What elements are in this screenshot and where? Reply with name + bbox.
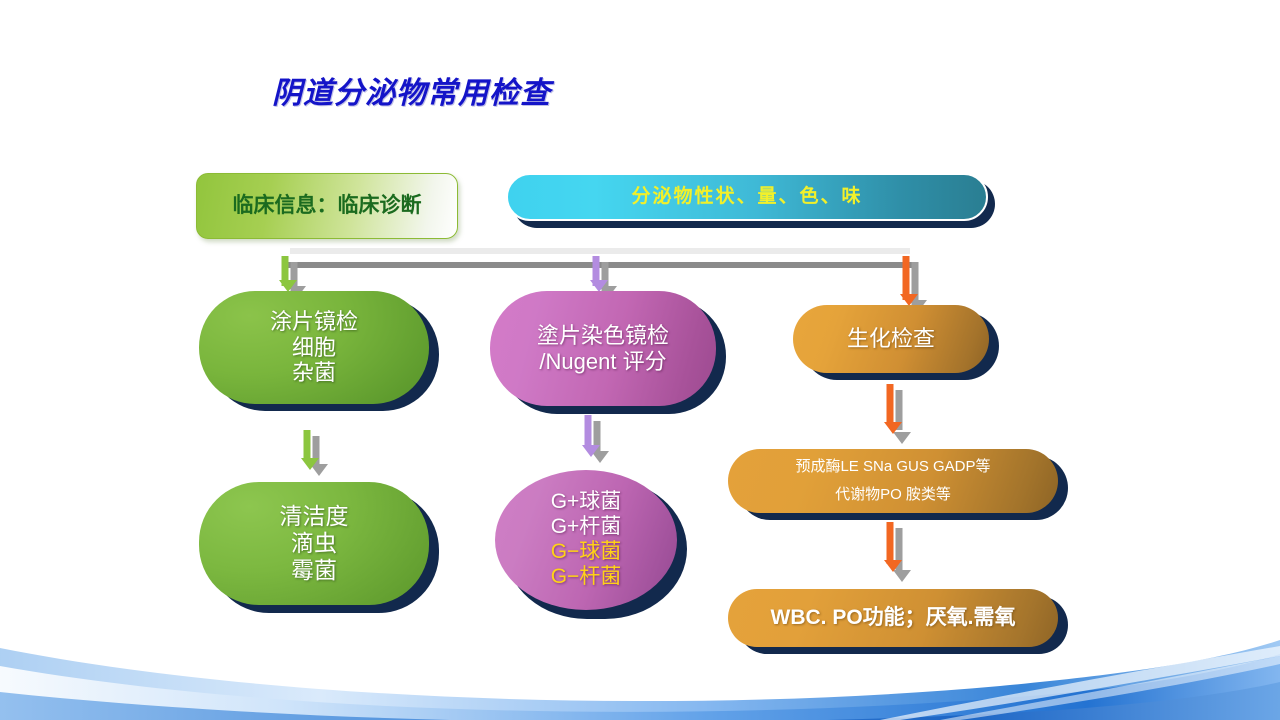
node-preformed-enzymes[interactable]: 预成酶LE SNa GUS GADP等 代谢物PO 胺类等 bbox=[728, 449, 1058, 513]
arrow-down-orange-to-enzymes bbox=[880, 384, 914, 446]
arrow-orange-head bbox=[884, 560, 902, 572]
arrow-orange-head bbox=[884, 422, 902, 434]
node-bacteria-line1: G+球菌 bbox=[551, 490, 622, 515]
page-title: 阴道分泌物常用检查 bbox=[272, 68, 551, 112]
node-bacteria-line4: G−杆菌 bbox=[551, 565, 622, 590]
node-cleanliness-line1: 清洁度 bbox=[280, 503, 349, 530]
arrow-orange-shaft bbox=[887, 522, 894, 564]
node-clinical-info-label: 临床信息：临床诊断 bbox=[233, 194, 422, 219]
arrow-green-head bbox=[301, 458, 319, 470]
node-clinical-info[interactable]: 临床信息：临床诊断 bbox=[196, 173, 458, 239]
node-cleanliness-line2: 滴虫 bbox=[291, 530, 337, 557]
slide-canvas: 阴道分泌物常用检查 临床信息：临床诊断 分泌物性状、量、色、味 涂片镜检 细胞 … bbox=[0, 0, 1280, 720]
node-wbc-label: WBC. PO功能；厌氧.需氧 bbox=[771, 606, 1016, 631]
node-bacteria-types[interactable]: G+球菌 G+杆菌 G−球菌 G−杆菌 bbox=[495, 470, 677, 610]
node-enzymes-line1: 预成酶LE SNa GUS GADP等 bbox=[795, 453, 990, 482]
node-gram-stain-nugent[interactable]: 塗片染色镜检 /Nugent 评分 bbox=[490, 291, 716, 406]
node-bacteria-line2: G+杆菌 bbox=[551, 515, 622, 540]
node-smear-line1: 涂片镜检 bbox=[270, 309, 358, 335]
arrow-down-green-to-cleanliness bbox=[297, 430, 331, 478]
node-secretion-label: 分泌物性状、量、色、味 bbox=[631, 186, 862, 208]
node-cleanliness[interactable]: 清洁度 滴虫 霉菌 bbox=[199, 482, 429, 605]
node-gram-line1: 塗片染色镜检 bbox=[537, 323, 669, 349]
arrow-down-orange-to-wbc bbox=[880, 522, 914, 584]
node-cleanliness-line3: 霉菌 bbox=[291, 557, 337, 584]
node-smear-line3: 杂菌 bbox=[292, 360, 336, 386]
arrow-orange-shaft bbox=[887, 384, 894, 424]
arrow-purple-shaft bbox=[585, 415, 592, 447]
node-secretion-properties[interactable]: 分泌物性状、量、色、味 bbox=[506, 173, 988, 221]
node-enzymes-line2: 代谢物PO 胺类等 bbox=[835, 481, 951, 510]
node-biochemical-test[interactable]: 生化检查 bbox=[793, 305, 989, 373]
arrow-green-shaft bbox=[304, 430, 311, 460]
node-biochem-label: 生化检查 bbox=[847, 326, 935, 352]
bottom-wave-decoration bbox=[0, 600, 1280, 720]
arrow-purple-head bbox=[582, 445, 600, 457]
connector-bar-shadow bbox=[290, 248, 910, 254]
node-smear-microscopy[interactable]: 涂片镜检 细胞 杂菌 bbox=[199, 291, 429, 404]
node-bacteria-line3: G−球菌 bbox=[551, 540, 622, 565]
node-smear-line2: 细胞 bbox=[292, 335, 336, 361]
node-wbc-function[interactable]: WBC. PO功能；厌氧.需氧 bbox=[728, 589, 1058, 647]
arrow-down-purple-to-bacteria bbox=[578, 415, 612, 465]
node-gram-line2: /Nugent 评分 bbox=[539, 349, 666, 375]
